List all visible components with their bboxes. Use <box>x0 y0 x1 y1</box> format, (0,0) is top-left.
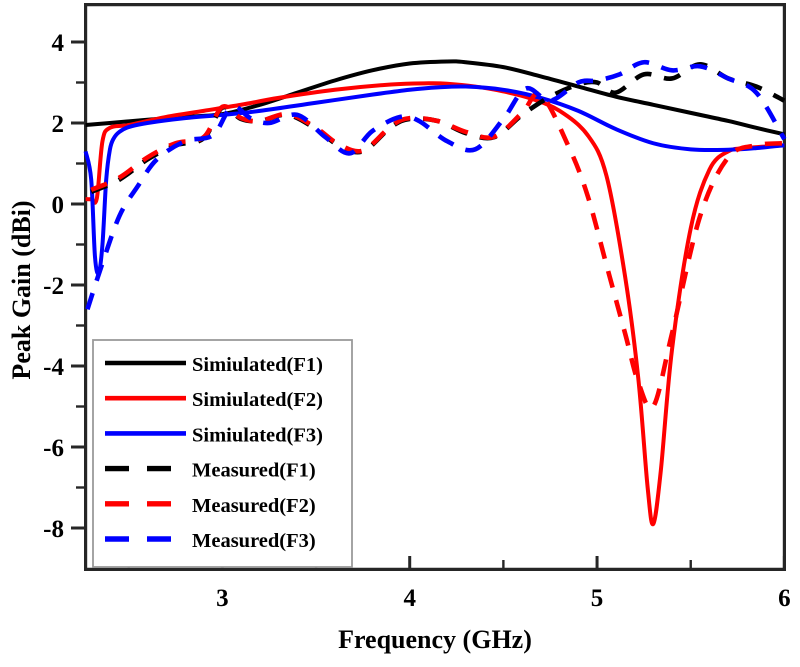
x-tick-label: 6 <box>778 585 791 612</box>
y-tick-label: 0 <box>52 192 65 219</box>
y-tick-label: 4 <box>52 30 65 57</box>
y-tick-label: -2 <box>43 273 64 300</box>
chart-legend: Simiulated(F1)Simiulated(F2)Simiulated(F… <box>93 340 352 567</box>
x-tick-label: 3 <box>216 585 229 612</box>
x-axis-label: Frequency (GHz) <box>338 625 532 654</box>
chart-svg: 3456420-2-4-6-8 Peak Gain (dBi) Frequenc… <box>0 0 800 667</box>
legend-label: Measured(F2) <box>192 495 316 517</box>
legend-label: Measured(F3) <box>192 530 316 552</box>
x-tick-label: 4 <box>403 585 416 612</box>
curve-simiulatedf1 <box>86 61 785 134</box>
y-tick-label: 2 <box>52 111 65 138</box>
y-axis-label: Peak Gain (dBi) <box>7 200 36 379</box>
y-tick-label: -6 <box>43 435 64 462</box>
legend-label: Simiulated(F2) <box>192 389 323 411</box>
legend-label: Simiulated(F1) <box>192 354 323 376</box>
legend-label: Simiulated(F3) <box>192 424 323 446</box>
y-tick-label: -4 <box>43 354 64 381</box>
peak-gain-chart: 3456420-2-4-6-8 Peak Gain (dBi) Frequenc… <box>0 0 800 667</box>
y-tick-label: -8 <box>43 516 64 543</box>
x-tick-label: 5 <box>591 585 604 612</box>
legend-label: Measured(F1) <box>192 460 316 482</box>
curve-measuredf3 <box>87 62 784 309</box>
